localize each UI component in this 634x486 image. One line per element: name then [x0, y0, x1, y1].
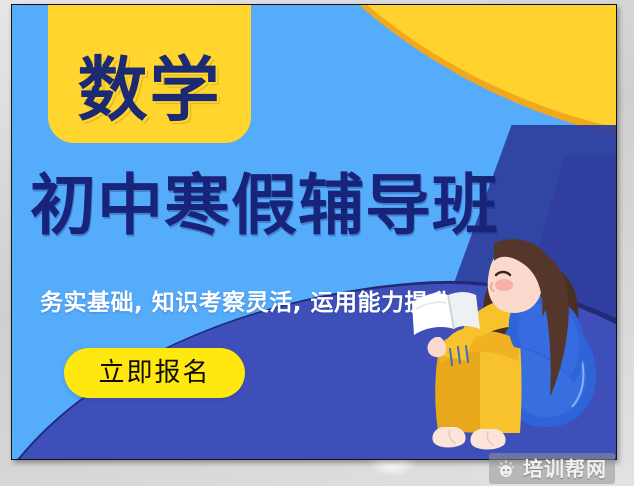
site-watermark: 培训帮网 [489, 453, 615, 484]
subject-badge-label: 数学 [78, 55, 222, 125]
screenshot-root: 数学 初中寒假辅导班 务实基础, 知识考察灵活, 运用能力提升 立即报名 [0, 0, 634, 486]
course-poster: 数学 初中寒假辅导班 务实基础, 知识考察灵活, 运用能力提升 立即报名 [11, 4, 617, 460]
top-right-yellow-arc-shape [206, 5, 616, 145]
poster-canvas: 数学 初中寒假辅导班 务实基础, 知识考察灵活, 运用能力提升 立即报名 [12, 5, 616, 459]
smiling-sun-face-icon [495, 458, 517, 480]
watermark-text: 培训帮网 [523, 459, 607, 479]
enroll-now-button-label: 立即报名 [98, 360, 210, 386]
subject-badge: 数学 [48, 5, 251, 143]
poster-subtitle: 务实基础, 知识考察灵活, 运用能力提升 [40, 283, 452, 317]
poster-headline: 初中寒假辅导班 [30, 173, 610, 239]
enroll-now-button[interactable]: 立即报名 [64, 348, 245, 398]
girl-reading-book-illustration [410, 233, 616, 459]
